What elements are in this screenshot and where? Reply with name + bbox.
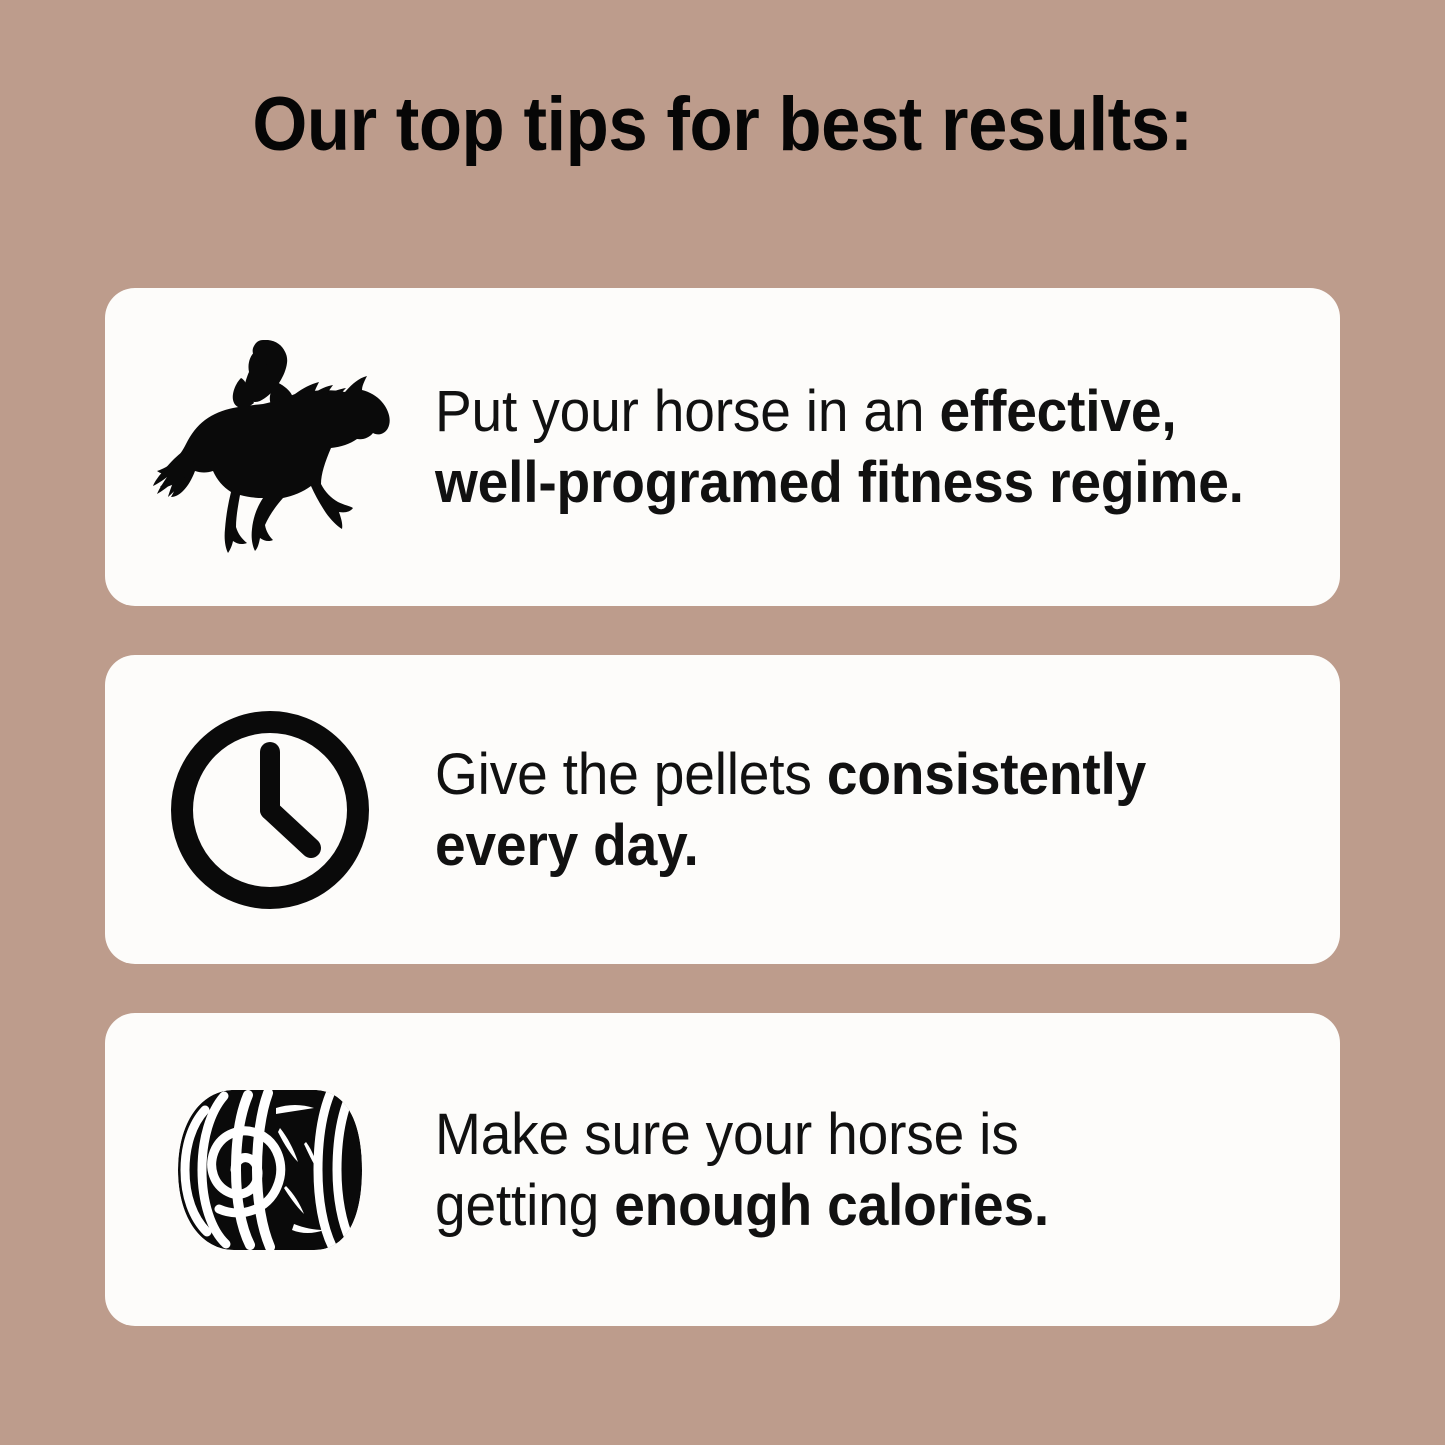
tip-1-line-1-regular: Put your horse in an (435, 379, 939, 444)
tip-3-line-2-regular: getting (435, 1173, 614, 1238)
tip-1-line-1: Put your horse in an effective, (435, 376, 1257, 447)
tip-3-line-1: Make sure your horse is (435, 1099, 1257, 1170)
tip-2-line-2: every day. (435, 810, 1257, 881)
tip-2-text: Give the pellets consistently every day. (435, 739, 1295, 881)
tip-1-icon-slot (105, 340, 435, 555)
tip-3-line-2: getting enough calories. (435, 1170, 1257, 1241)
tips-infographic: Our top tips for best results: (0, 0, 1445, 1445)
tip-1-text: Put your horse in an effective, well-pro… (435, 376, 1295, 518)
tip-card-2: Give the pellets consistently every day. (105, 655, 1340, 964)
page-title: Our top tips for best results: (51, 78, 1395, 172)
hay-bale-icon (172, 1084, 368, 1256)
tip-1-line-2: well-programed fitness regime. (435, 447, 1257, 518)
tip-card-3: Make sure your horse is getting enough c… (105, 1013, 1340, 1326)
clock-icon (170, 710, 370, 910)
horse-rider-icon (145, 340, 395, 555)
tip-2-line-2-bold: every day. (435, 813, 699, 878)
tip-3-text: Make sure your horse is getting enough c… (435, 1099, 1295, 1241)
tip-1-line-1-bold: effective, (939, 379, 1176, 444)
tip-3-line-1-regular: Make sure your horse is (435, 1102, 1019, 1167)
tip-card-1: Put your horse in an effective, well-pro… (105, 288, 1340, 606)
tip-3-line-2-bold: enough calories. (614, 1173, 1049, 1238)
tip-2-line-1-regular: Give the pellets (435, 742, 827, 807)
tip-3-icon-slot (105, 1084, 435, 1256)
tip-2-icon-slot (105, 710, 435, 910)
tip-2-line-1-bold: consistently (827, 742, 1146, 807)
tip-2-line-1: Give the pellets consistently (435, 739, 1257, 810)
tip-1-line-2-bold: well-programed fitness regime. (435, 450, 1244, 515)
